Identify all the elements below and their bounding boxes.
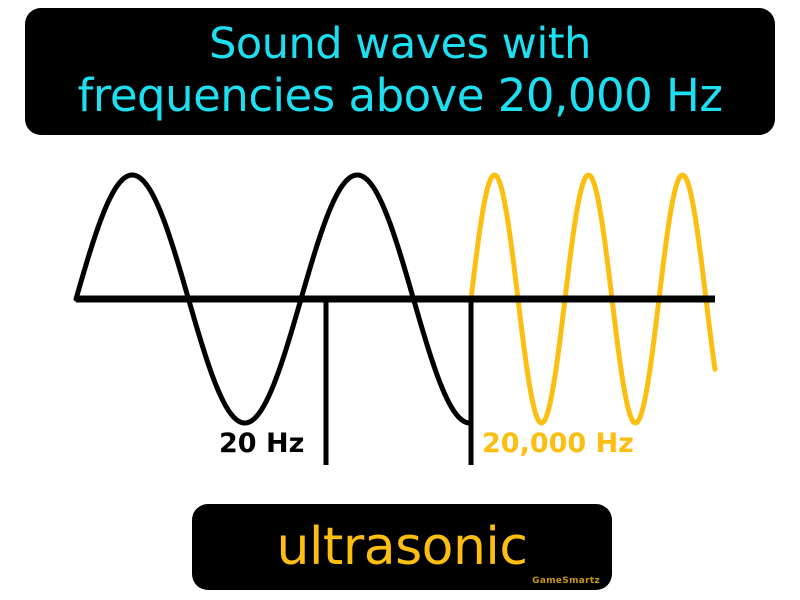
waveform-diagram	[0, 150, 800, 480]
definition-line-1: Sound waves with	[209, 18, 591, 70]
definition-line-2: frequencies above 20,000 Hz	[77, 70, 722, 122]
term-banner: ultrasonic GameSmartz	[192, 504, 612, 590]
definition-banner: Sound waves with frequencies above 20,00…	[25, 8, 775, 135]
waveform-svg	[0, 150, 800, 480]
term-label: ultrasonic	[277, 521, 528, 573]
watermark-label: GameSmartz	[532, 576, 600, 586]
frequency-label-high: 20,000 Hz	[482, 430, 634, 457]
flashcard: Sound waves with frequencies above 20,00…	[0, 0, 800, 600]
frequency-label-low: 20 Hz	[219, 430, 304, 457]
